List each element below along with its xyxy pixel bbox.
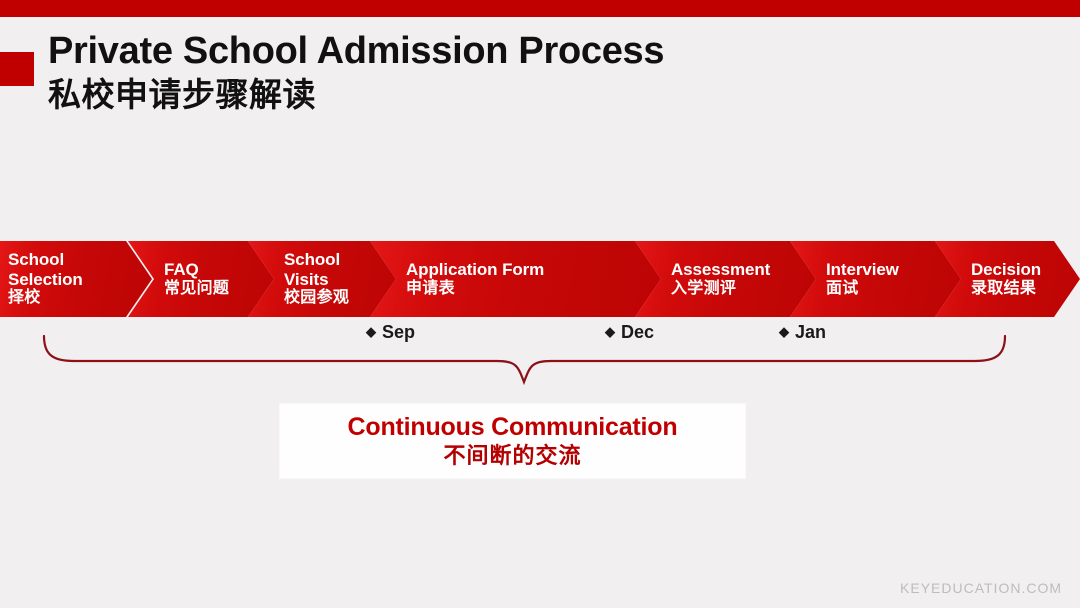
process-step-label-cn: 录取结果 (971, 280, 1041, 299)
process-step-school-selection[interactable]: School Selection 择校 (0, 241, 152, 317)
process-step-label-cn: 常见问题 (164, 280, 229, 299)
process-step-assessment[interactable]: Assessment 入学测评 (635, 241, 816, 317)
process-step-labels: FAQ 常见问题 (164, 260, 229, 298)
process-step-labels: Interview 面试 (826, 260, 899, 298)
process-step-labels: Assessment 入学测评 (671, 260, 770, 298)
continuous-communication-callout: Continuous Communication 不间断的交流 (280, 404, 745, 478)
process-step-label-en: Decision (971, 260, 1041, 280)
title-accent-square (0, 52, 34, 86)
process-span-brace (0, 330, 1080, 405)
brace-icon (0, 330, 1080, 405)
process-step-label-cn: 校园参观 (284, 289, 349, 308)
process-step-label-cn: 择校 (8, 289, 83, 308)
process-step-labels: School Visits 校园参观 (284, 250, 349, 308)
process-step-labels: Decision 录取结果 (971, 260, 1041, 298)
process-step-labels: Application Form 申请表 (406, 260, 544, 298)
process-step-label-en: Assessment (671, 260, 770, 280)
page-title: Private School Admission Process 私校申请步骤解… (48, 28, 948, 116)
footer-watermark: KEYEDUCATION.COM (900, 580, 1062, 596)
process-step-label-en: Interview (826, 260, 899, 280)
process-step-label-en: School Selection (8, 250, 83, 289)
process-step-label-cn: 申请表 (406, 280, 544, 299)
top-accent-bar (0, 0, 1080, 17)
process-step-label-en: Application Form (406, 260, 544, 280)
process-step-label-cn: 入学测评 (671, 280, 770, 299)
process-chevron-row: School Selection 择校 FAQ 常见问题 School Visi… (0, 241, 1080, 317)
page-title-en: Private School Admission Process (48, 28, 948, 74)
process-step-label-en: School Visits (284, 250, 349, 289)
callout-label-en: Continuous Communication (348, 412, 678, 442)
process-step-labels: School Selection 择校 (8, 250, 83, 308)
page-title-cn: 私校申请步骤解读 (48, 74, 948, 116)
callout-label-cn: 不间断的交流 (443, 442, 581, 470)
process-step-label-en: FAQ (164, 260, 229, 280)
process-step-application-form[interactable]: Application Form 申请表 (370, 241, 661, 317)
process-step-label-cn: 面试 (826, 280, 899, 299)
